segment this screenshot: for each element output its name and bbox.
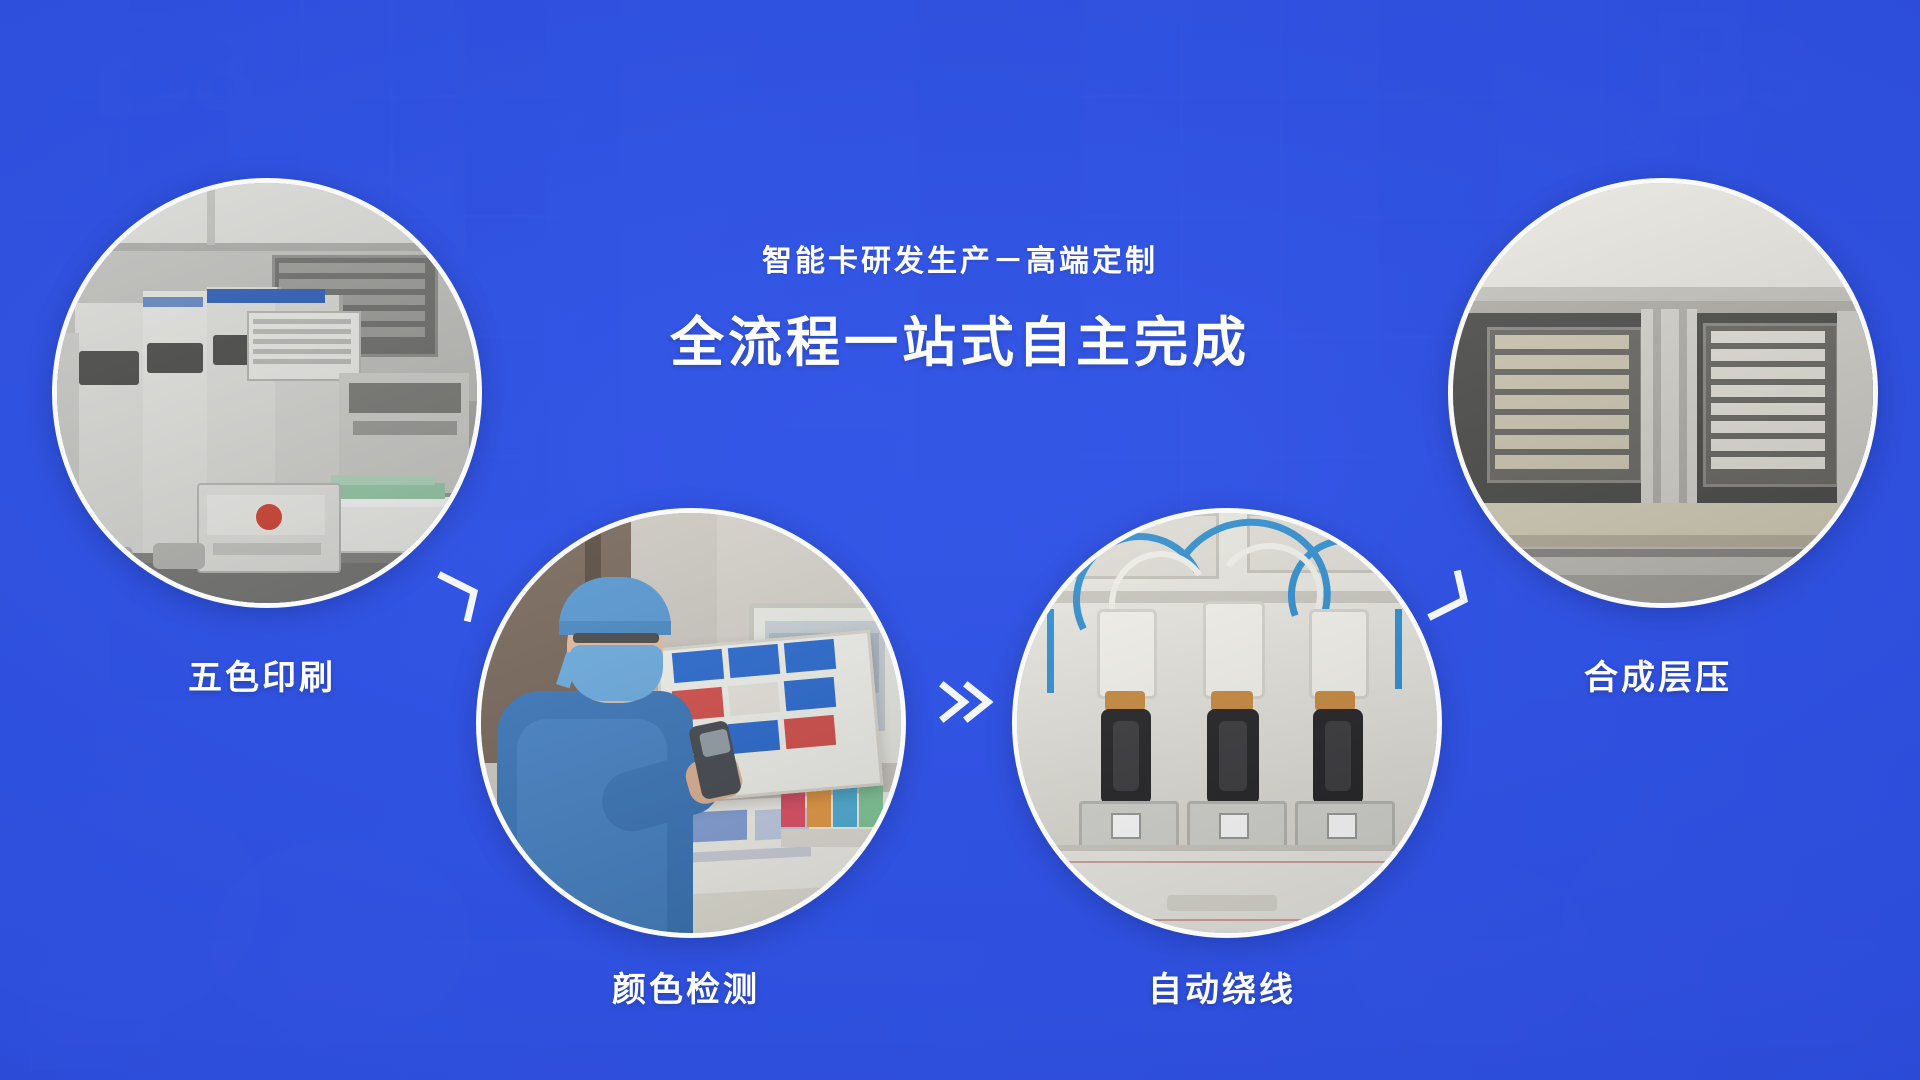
step-1-caption: 五色印刷 bbox=[52, 650, 472, 699]
image-color-inspection bbox=[481, 513, 901, 933]
poster-canvas: B 8 B 9 浙 智能卡研发生产－高端定制 全流程一站式自主完成 bbox=[0, 0, 1920, 1080]
step-2-photo[interactable] bbox=[476, 508, 906, 938]
step-4-caption: 合成层压 bbox=[1448, 650, 1868, 699]
image-auto-coil-winding bbox=[1017, 513, 1437, 933]
step-2-caption: 颜色检测 bbox=[476, 962, 896, 1011]
step-4-photo[interactable] bbox=[1448, 178, 1878, 608]
image-five-color-press bbox=[57, 183, 477, 603]
arrow-2-chevron-double-right-icon bbox=[938, 680, 998, 724]
step-3-photo[interactable] bbox=[1012, 508, 1442, 938]
step-3-caption: 自动绕线 bbox=[1012, 962, 1432, 1011]
step-1-photo[interactable] bbox=[52, 178, 482, 608]
image-lamination-press bbox=[1453, 183, 1873, 603]
arrow-1-chevron-right-icon bbox=[432, 570, 484, 622]
